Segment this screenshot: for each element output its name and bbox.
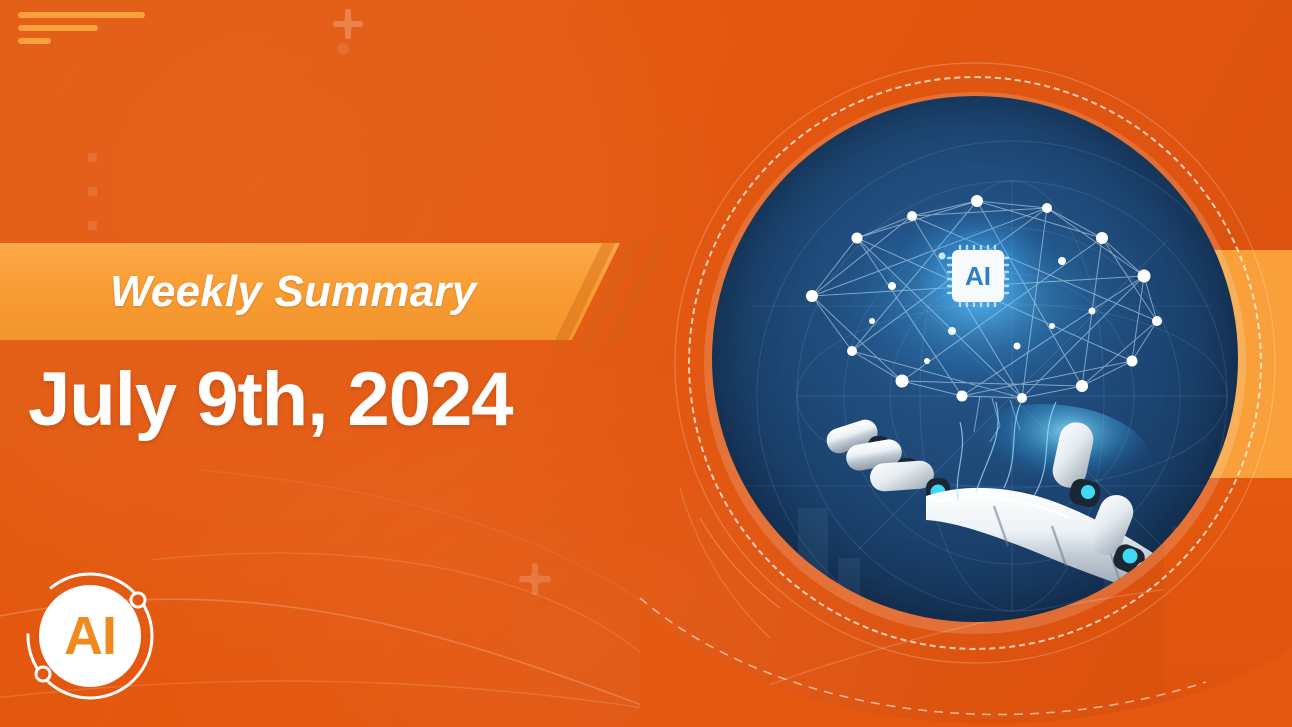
bar-long: [18, 12, 145, 18]
decor-square: [88, 221, 97, 230]
banner-title: Weekly Summary: [110, 243, 476, 340]
ai-logo: AI: [20, 566, 160, 706]
ai-chip-icon: AI: [946, 244, 1010, 308]
plus-icon: [332, 8, 364, 40]
hero-disc: AI: [712, 96, 1238, 622]
issue-date: July 9th, 2024: [28, 362, 513, 438]
top-left-bars: [18, 12, 145, 51]
bar-medium: [18, 25, 98, 31]
hero-graphic: AI: [660, 48, 1290, 678]
decor-square: [88, 153, 97, 162]
chip-label: AI: [952, 250, 1004, 302]
plus-icon: [518, 562, 552, 596]
weekly-summary-cover: AI: [0, 0, 1292, 727]
decor-square: [88, 187, 97, 196]
bar-short: [18, 38, 51, 44]
ai-logo-text: AI: [20, 585, 160, 687]
robot-hand-icon: [808, 396, 1208, 622]
plus-icon-small: [334, 40, 352, 58]
weekly-summary-banner: Weekly Summary: [0, 243, 660, 340]
